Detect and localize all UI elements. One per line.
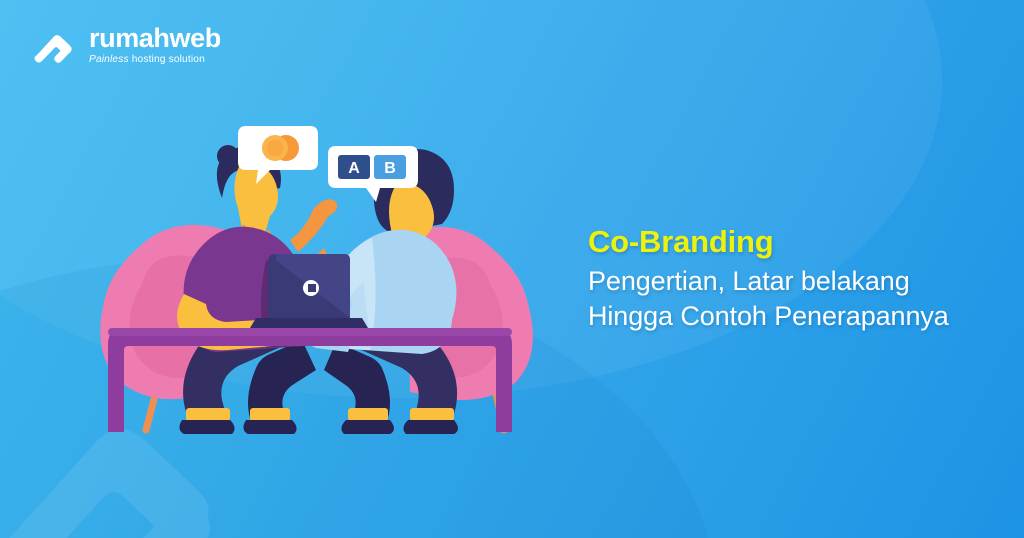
brand-tagline: Painless hosting solution xyxy=(89,55,221,65)
headline-title: Co-Branding xyxy=(588,224,998,261)
headline-subtitle-line-1: Pengertian, Latar belakang xyxy=(588,264,998,300)
illustration-two-people-at-table: A B xyxy=(80,112,550,432)
headline-block: Co-Branding Pengertian, Latar belakang H… xyxy=(588,224,998,335)
two-coins-icon xyxy=(262,135,299,161)
rumahweb-logo-icon xyxy=(34,23,80,67)
brand-tagline-italic: Painless xyxy=(89,54,129,65)
co-branding-banner: rumahweb Painless hosting solution Co-Br… xyxy=(0,0,1024,538)
brand-logo[interactable]: rumahweb Painless hosting solution xyxy=(34,23,221,67)
brand-name: rumahweb xyxy=(89,25,221,52)
ab-letter-a: A xyxy=(348,160,360,177)
headline-subtitle-line-2: Hingga Contoh Penerapannya xyxy=(588,299,998,335)
brand-tagline-rest: hosting solution xyxy=(129,54,205,65)
ab-letter-b: B xyxy=(384,160,396,177)
